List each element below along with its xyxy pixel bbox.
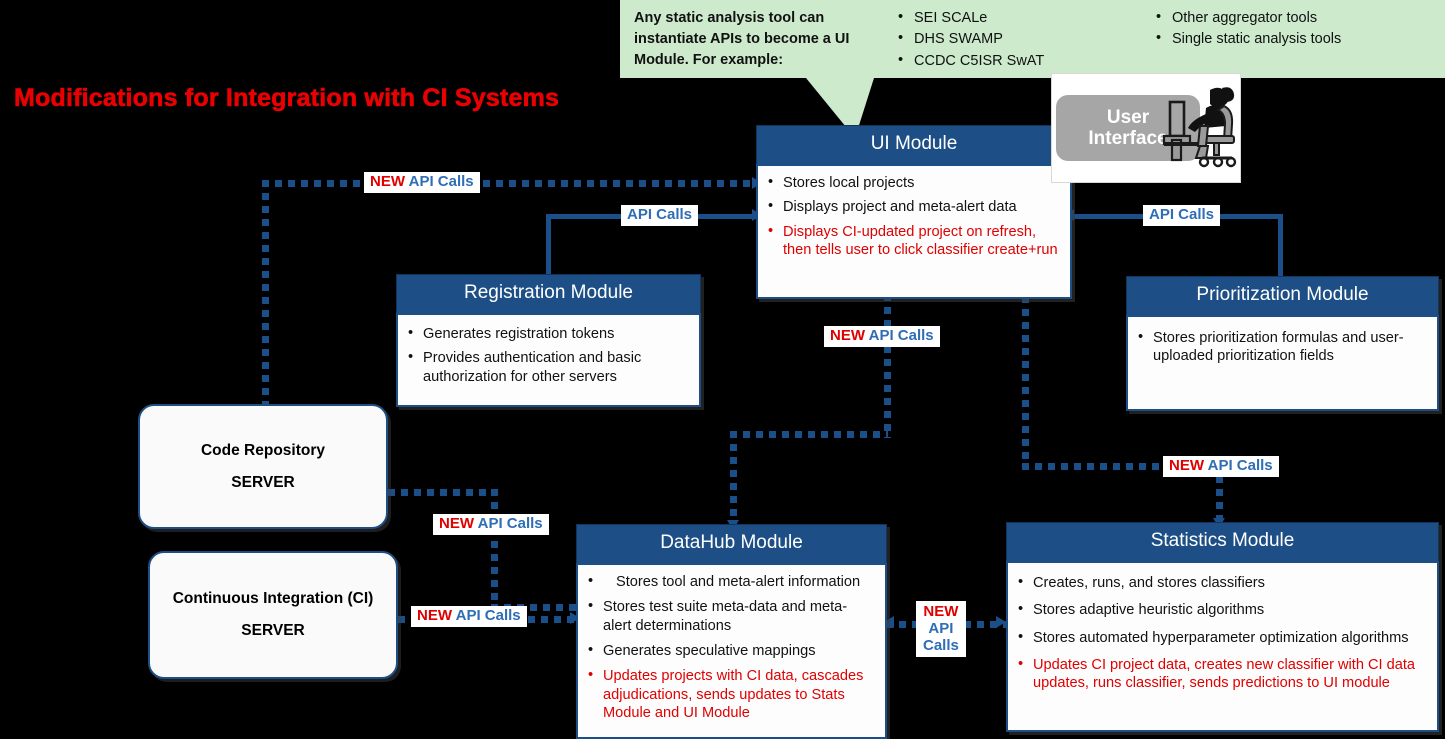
edge-label-text: API Calls: [869, 327, 934, 344]
user-interface-label-line2: Interface: [1088, 128, 1167, 149]
callout-column-2: Other aggregator tools Single static ana…: [1156, 8, 1416, 78]
connector-ui-statistics-vertical-upper: [1022, 270, 1029, 470]
page-title: Modifications for Integration with CI Sy…: [14, 84, 559, 113]
ui-module-item: Stores local projects: [766, 174, 1060, 192]
edge-label-new-api-calls-datahub-statistics: NEW API Calls: [916, 601, 966, 657]
connector-ui-datahub-vertical-lower: [730, 431, 737, 526]
edge-label-new-prefix: NEW: [417, 607, 452, 624]
edge-label-new-prefix: NEW: [830, 327, 865, 344]
callout-box: Any static analysis tool can instantiate…: [620, 0, 1445, 78]
statistics-module-item: Stores adaptive heuristic algorithms: [1016, 601, 1427, 619]
callout-item: SEI SCALe: [898, 8, 1128, 29]
callout-item: CCDC C5ISR SwAT: [898, 51, 1128, 72]
statistics-module[interactable]: Statistics Module Creates, runs, and sto…: [1006, 522, 1439, 732]
connector-code-repository-datahub-horizontal: [388, 489, 498, 496]
user-interface-label-line1: User: [1088, 107, 1167, 128]
connector-ui-registration-vertical: [546, 214, 551, 276]
statistics-module-item: Creates, runs, and stores classifiers: [1016, 574, 1427, 592]
datahub-module-item: Generates speculative mappings: [586, 642, 875, 660]
person-at-computer-icon: [1160, 80, 1240, 175]
datahub-module-body: Stores tool and meta-alert information S…: [576, 563, 887, 739]
arrowhead-datahub-to-statistics: [996, 616, 1006, 628]
prioritization-module[interactable]: Prioritization Module Stores prioritizat…: [1126, 276, 1439, 411]
edge-label-api-calls-registration: API Calls: [621, 205, 698, 226]
connector-ui-to-code-repository-horizontal: [262, 180, 762, 187]
edge-label-new-api-calls-ui-datahub: NEW API Calls: [824, 326, 940, 347]
edge-label-new-api-calls-statistics: NEW API Calls: [1163, 456, 1279, 477]
registration-module-item: Generates registration tokens: [406, 325, 689, 343]
callout-lead-text: Any static analysis tool can instantiate…: [634, 8, 874, 78]
prioritization-module-title: Prioritization Module: [1126, 276, 1439, 315]
callout-item: Single static analysis tools: [1156, 29, 1416, 50]
edge-label-text: API Calls: [1208, 457, 1273, 474]
registration-module-item: Provides authentication and basic author…: [406, 349, 689, 386]
edge-label-calls-word: Calls: [923, 638, 959, 655]
ci-server-line1: Continuous Integration (CI): [173, 590, 374, 608]
ci-server[interactable]: Continuous Integration (CI) SERVER: [148, 551, 398, 679]
registration-module-body: Generates registration tokens Provides a…: [396, 313, 701, 407]
callout-item: DHS SWAMP: [898, 29, 1128, 50]
datahub-module-item: Stores tool and meta-alert information: [586, 573, 875, 591]
ui-module-item-new: Displays CI-updated project on refresh, …: [766, 223, 1060, 260]
ci-server-line2: SERVER: [241, 622, 304, 640]
edge-label-new-prefix: NEW: [1169, 457, 1204, 474]
datahub-module-item: Stores test suite meta-data and meta-ale…: [586, 598, 875, 635]
code-repository-server-line2: SERVER: [231, 474, 294, 492]
edge-label-new-api-calls-top-left: NEW API Calls: [364, 172, 480, 193]
edge-label-text: API Calls: [478, 515, 543, 532]
edge-label-text: API Calls: [456, 607, 521, 624]
ui-module-title: UI Module: [756, 125, 1072, 164]
edge-label-api-word: API: [923, 621, 959, 638]
callout-column-1: SEI SCALe DHS SWAMP CCDC C5ISR SwAT: [898, 8, 1128, 78]
prioritization-module-item: Stores prioritization formulas and user-…: [1136, 329, 1427, 366]
edge-label-text: API Calls: [627, 206, 692, 223]
statistics-module-item-new: Updates CI project data, creates new cla…: [1016, 656, 1427, 693]
edge-label-text: API Calls: [409, 173, 474, 190]
ui-module-item: Displays project and meta-alert data: [766, 198, 1060, 216]
datahub-module-title: DataHub Module: [576, 524, 887, 563]
ui-module-body: Stores local projects Displays project a…: [756, 164, 1072, 299]
callout-item: Other aggregator tools: [1156, 8, 1416, 29]
registration-module-title: Registration Module: [396, 274, 701, 313]
statistics-module-item: Stores automated hyperparameter optimiza…: [1016, 629, 1427, 647]
statistics-module-body: Creates, runs, and stores classifiers St…: [1006, 561, 1439, 732]
edge-label-new-prefix: NEW: [370, 173, 405, 190]
connector-code-repository-datahub-vertical: [491, 489, 498, 609]
edge-label-text: API Calls: [1149, 206, 1214, 223]
statistics-module-title: Statistics Module: [1006, 522, 1439, 561]
code-repository-server[interactable]: Code Repository SERVER: [138, 404, 388, 529]
edge-label-api-calls-prioritization: API Calls: [1143, 205, 1220, 226]
connector-ui-prioritization-vertical: [1278, 214, 1283, 278]
registration-module[interactable]: Registration Module Generates registrati…: [396, 274, 701, 407]
edge-label-new-prefix: NEW: [923, 604, 959, 621]
edge-label-new-prefix: NEW: [439, 515, 474, 532]
ui-module[interactable]: UI Module Stores local projects Displays…: [756, 125, 1072, 299]
prioritization-module-body: Stores prioritization formulas and user-…: [1126, 315, 1439, 411]
connector-ui-datahub-horizontal: [730, 431, 888, 438]
edge-label-new-api-calls-code-repository: NEW API Calls: [433, 514, 549, 535]
datahub-module-item-new: Updates projects with CI data, cascades …: [586, 667, 875, 722]
diagram-canvas: Modifications for Integration with CI Sy…: [0, 0, 1445, 705]
edge-label-new-api-calls-ci: NEW API Calls: [411, 606, 527, 627]
code-repository-server-line1: Code Repository: [201, 442, 325, 460]
connector-ui-to-code-repository-vertical: [262, 180, 269, 410]
datahub-module[interactable]: DataHub Module Stores tool and meta-aler…: [576, 524, 887, 739]
